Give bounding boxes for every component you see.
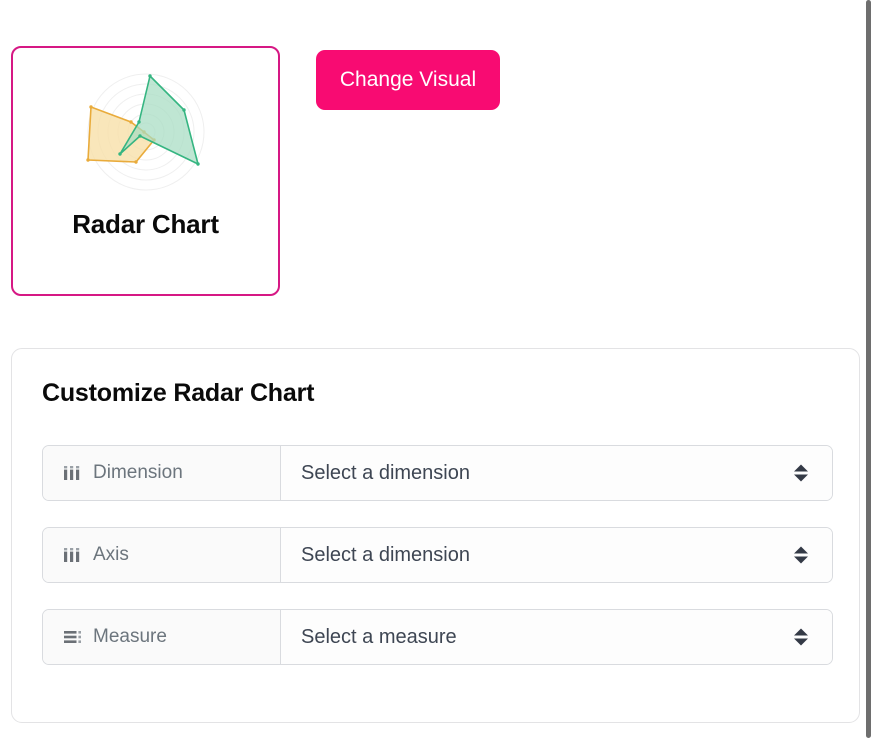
field-label-measure: Measure [43, 610, 281, 664]
visual-type-card-label: Radar Chart [13, 209, 278, 240]
radar-chart-icon [76, 62, 216, 202]
field-label-text: Dimension [93, 462, 183, 484]
dimension-select-value: Select a dimension [301, 462, 470, 485]
dimension-columns-icon [61, 544, 83, 566]
field-row-measure: Measure Select a measure [42, 609, 833, 665]
field-label-text: Measure [93, 626, 167, 648]
chevron-updown-icon [794, 465, 808, 482]
axis-select[interactable]: Select a dimension [281, 528, 832, 582]
customize-panel-title: Customize Radar Chart [42, 379, 314, 408]
field-label-axis: Axis [43, 528, 281, 582]
field-row-dimension: Dimension Select a dimension [42, 445, 833, 501]
customize-panel: Customize Radar Chart [11, 348, 860, 723]
change-visual-button[interactable]: Change Visual [316, 50, 500, 110]
field-label-text: Axis [93, 544, 129, 566]
dimension-select[interactable]: Select a dimension [281, 446, 832, 500]
dimension-columns-icon [61, 462, 83, 484]
vertical-scrollbar[interactable] [860, 0, 872, 738]
customize-field-list: Dimension Select a dimension [42, 445, 833, 665]
field-row-axis: Axis Select a dimension [42, 527, 833, 583]
axis-select-value: Select a dimension [301, 544, 470, 567]
visual-config-page: Radar Chart Change Visual Customize Rada… [0, 0, 872, 738]
chevron-updown-icon [794, 547, 808, 564]
field-label-dimension: Dimension [43, 446, 281, 500]
measure-select-value: Select a measure [301, 626, 457, 649]
chevron-updown-icon [794, 629, 808, 646]
vertical-scrollbar-thumb[interactable] [866, 0, 871, 738]
measure-select[interactable]: Select a measure [281, 610, 832, 664]
measure-rows-icon [61, 626, 83, 648]
visual-type-card-radar-chart[interactable]: Radar Chart [11, 46, 280, 296]
